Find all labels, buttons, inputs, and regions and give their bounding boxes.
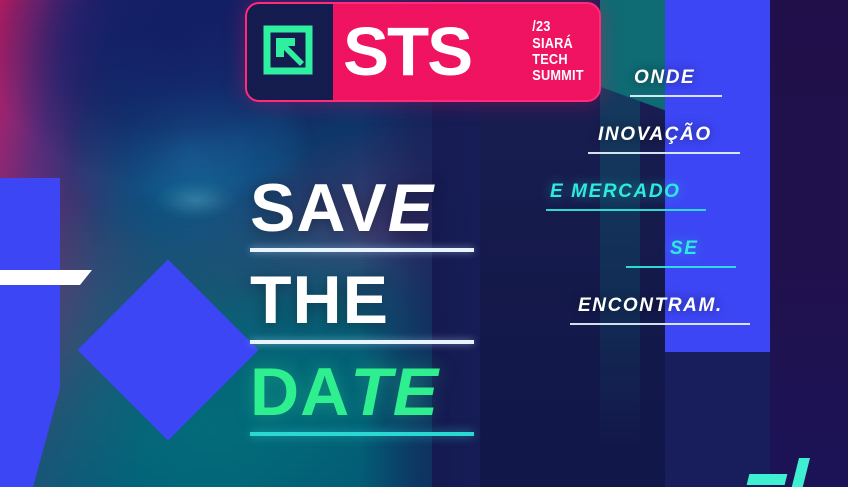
tagline-text-e-mercado: E MERCADO (550, 181, 681, 203)
headline-rule-the (250, 340, 474, 344)
headline-word-date: DATE (250, 360, 510, 426)
tagline-rule-inovacao (588, 152, 740, 154)
sts-wordmark-wrap: STS (333, 4, 527, 100)
sts-year-label: /23 (532, 19, 583, 35)
square-diagonal-arrow-icon (261, 23, 319, 81)
white-angled-bar-shape (0, 270, 92, 285)
tagline-rule-encontram (570, 323, 750, 325)
tagline-text-se: SE (670, 238, 699, 260)
headline-line-save: SAVE (250, 176, 510, 252)
tagline-text-encontram: ENCONTRAM. (578, 295, 723, 317)
tagline-row-onde: ONDE (540, 46, 840, 103)
tagline-rule-onde (630, 95, 722, 97)
headline-word-save: SAVE (250, 176, 510, 242)
cyan-slash-mark (748, 458, 818, 487)
tagline-rule-e-mercado (546, 209, 706, 211)
sts-logo-plate (247, 4, 333, 100)
poster-canvas: STS /23 SIARÁ TECH SUMMIT SAVE THE DATE … (0, 0, 848, 487)
headline-line-the: THE (250, 268, 510, 344)
headline-rule-save (250, 248, 474, 252)
tagline-row-encontram: ENCONTRAM. (540, 274, 840, 331)
tagline-text-inovacao: INOVAÇÃO (598, 124, 712, 146)
sts-wordmark: STS (343, 24, 471, 81)
cyan-slash-icon (789, 458, 810, 487)
headline-rule-date (250, 432, 474, 436)
tagline-text-onde: ONDE (634, 67, 695, 89)
cyan-dash-icon (747, 474, 788, 485)
headline-line-date: DATE (250, 360, 510, 436)
tagline-block: ONDE INOVAÇÃO E MERCADO SE ENCONTRAM. (540, 46, 840, 331)
save-the-date-headline: SAVE THE DATE (250, 176, 510, 452)
headline-word-the: THE (250, 268, 510, 334)
tagline-row-e-mercado: E MERCADO (540, 160, 840, 217)
tagline-row-se: SE (540, 217, 840, 274)
tagline-row-inovacao: INOVAÇÃO (540, 103, 840, 160)
tagline-rule-se (626, 266, 736, 268)
